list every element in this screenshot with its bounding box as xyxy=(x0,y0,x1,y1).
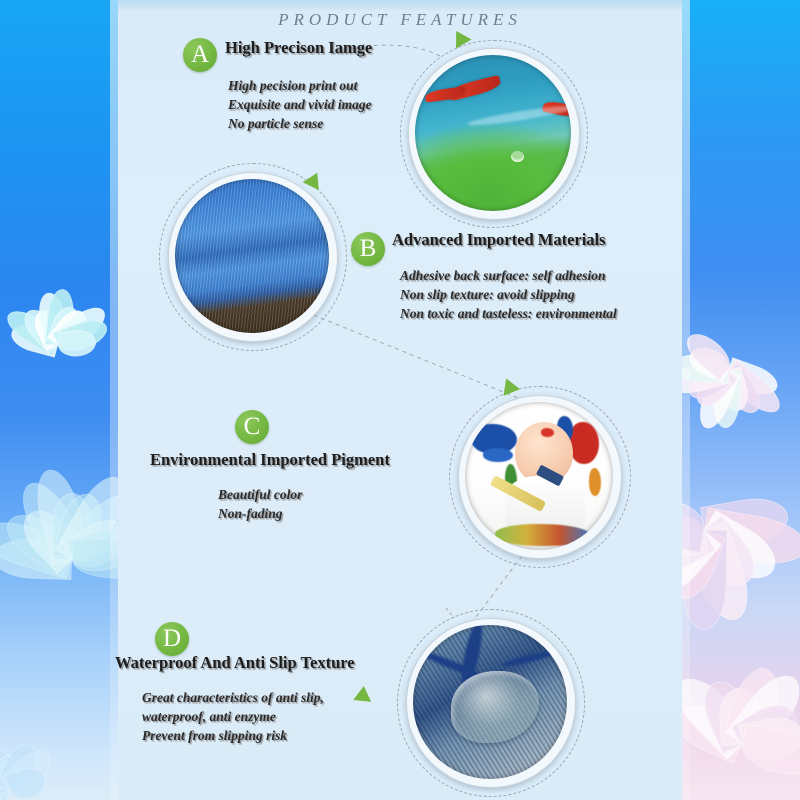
feature-badge-a: A xyxy=(183,38,217,72)
feature-body-a: High pecision print out Exquisite and vi… xyxy=(228,76,372,133)
feature-body-line: Non toxic and tasteless: environmental xyxy=(400,304,617,323)
feature-body-line: High pecision print out xyxy=(228,76,372,95)
photo-painting-baby xyxy=(465,402,613,550)
water-bead xyxy=(451,671,539,743)
feature-body-line: Beautiful color xyxy=(218,485,302,504)
feature-badge-c: C xyxy=(235,410,269,444)
feature-body-line: waterproof, anti enzyme xyxy=(142,707,324,726)
feature-badge-d: D xyxy=(155,622,189,656)
surface-vein xyxy=(501,648,557,668)
left-band-gradient xyxy=(0,0,118,800)
feature-body-line: Non-fading xyxy=(218,504,302,523)
paint-splatter xyxy=(495,524,591,546)
feature-title-a: High Precison Iamge xyxy=(225,38,372,58)
paint-splatter xyxy=(541,428,554,437)
feature-title-d: Waterproof And Anti Slip Texture xyxy=(115,653,355,673)
feature-body-c: Beautiful color Non-fading xyxy=(218,485,302,523)
photo-blue-fabric xyxy=(175,179,329,333)
paint-splatter xyxy=(589,468,601,496)
feature-badge-b: B xyxy=(351,232,385,266)
feature-body-line: Non slip texture: avoid slipping xyxy=(400,285,617,304)
feature-body-line: No particle sense xyxy=(228,114,372,133)
photo-koi-lotus xyxy=(415,55,571,211)
feature-body-line: Exquisite and vivid image xyxy=(228,95,372,114)
photo-water-bead xyxy=(413,625,567,779)
paint-splatter xyxy=(483,448,513,462)
feature-body-line: Great characteristics of anti slip, xyxy=(142,688,324,707)
feature-title-b: Advanced Imported Materials xyxy=(392,230,606,250)
feature-body-line: Adhesive back surface: self adhesion xyxy=(400,266,617,285)
water-streak xyxy=(467,102,571,128)
right-panel-edge-highlight xyxy=(681,0,690,800)
feature-body-line: Prevent from slipping risk xyxy=(142,726,324,745)
koi-fish xyxy=(424,86,465,102)
left-decorative-band xyxy=(0,0,118,800)
feature-body-d: Great characteristics of anti slip, wate… xyxy=(142,688,324,745)
product-features-infographic: PRODUCT FEATURES A High Precison Iamge H… xyxy=(0,0,800,800)
right-decorative-band xyxy=(682,0,800,800)
water-droplet xyxy=(511,151,524,162)
content-panel: PRODUCT FEATURES A High Precison Iamge H… xyxy=(118,0,682,800)
feature-body-b: Adhesive back surface: self adhesion Non… xyxy=(400,266,617,323)
page-title: PRODUCT FEATURES xyxy=(118,10,682,30)
feature-title-c: Environmental Imported Pigment xyxy=(150,450,390,470)
paint-splatter xyxy=(569,422,599,464)
green-triangle-arrow-d xyxy=(353,685,372,702)
